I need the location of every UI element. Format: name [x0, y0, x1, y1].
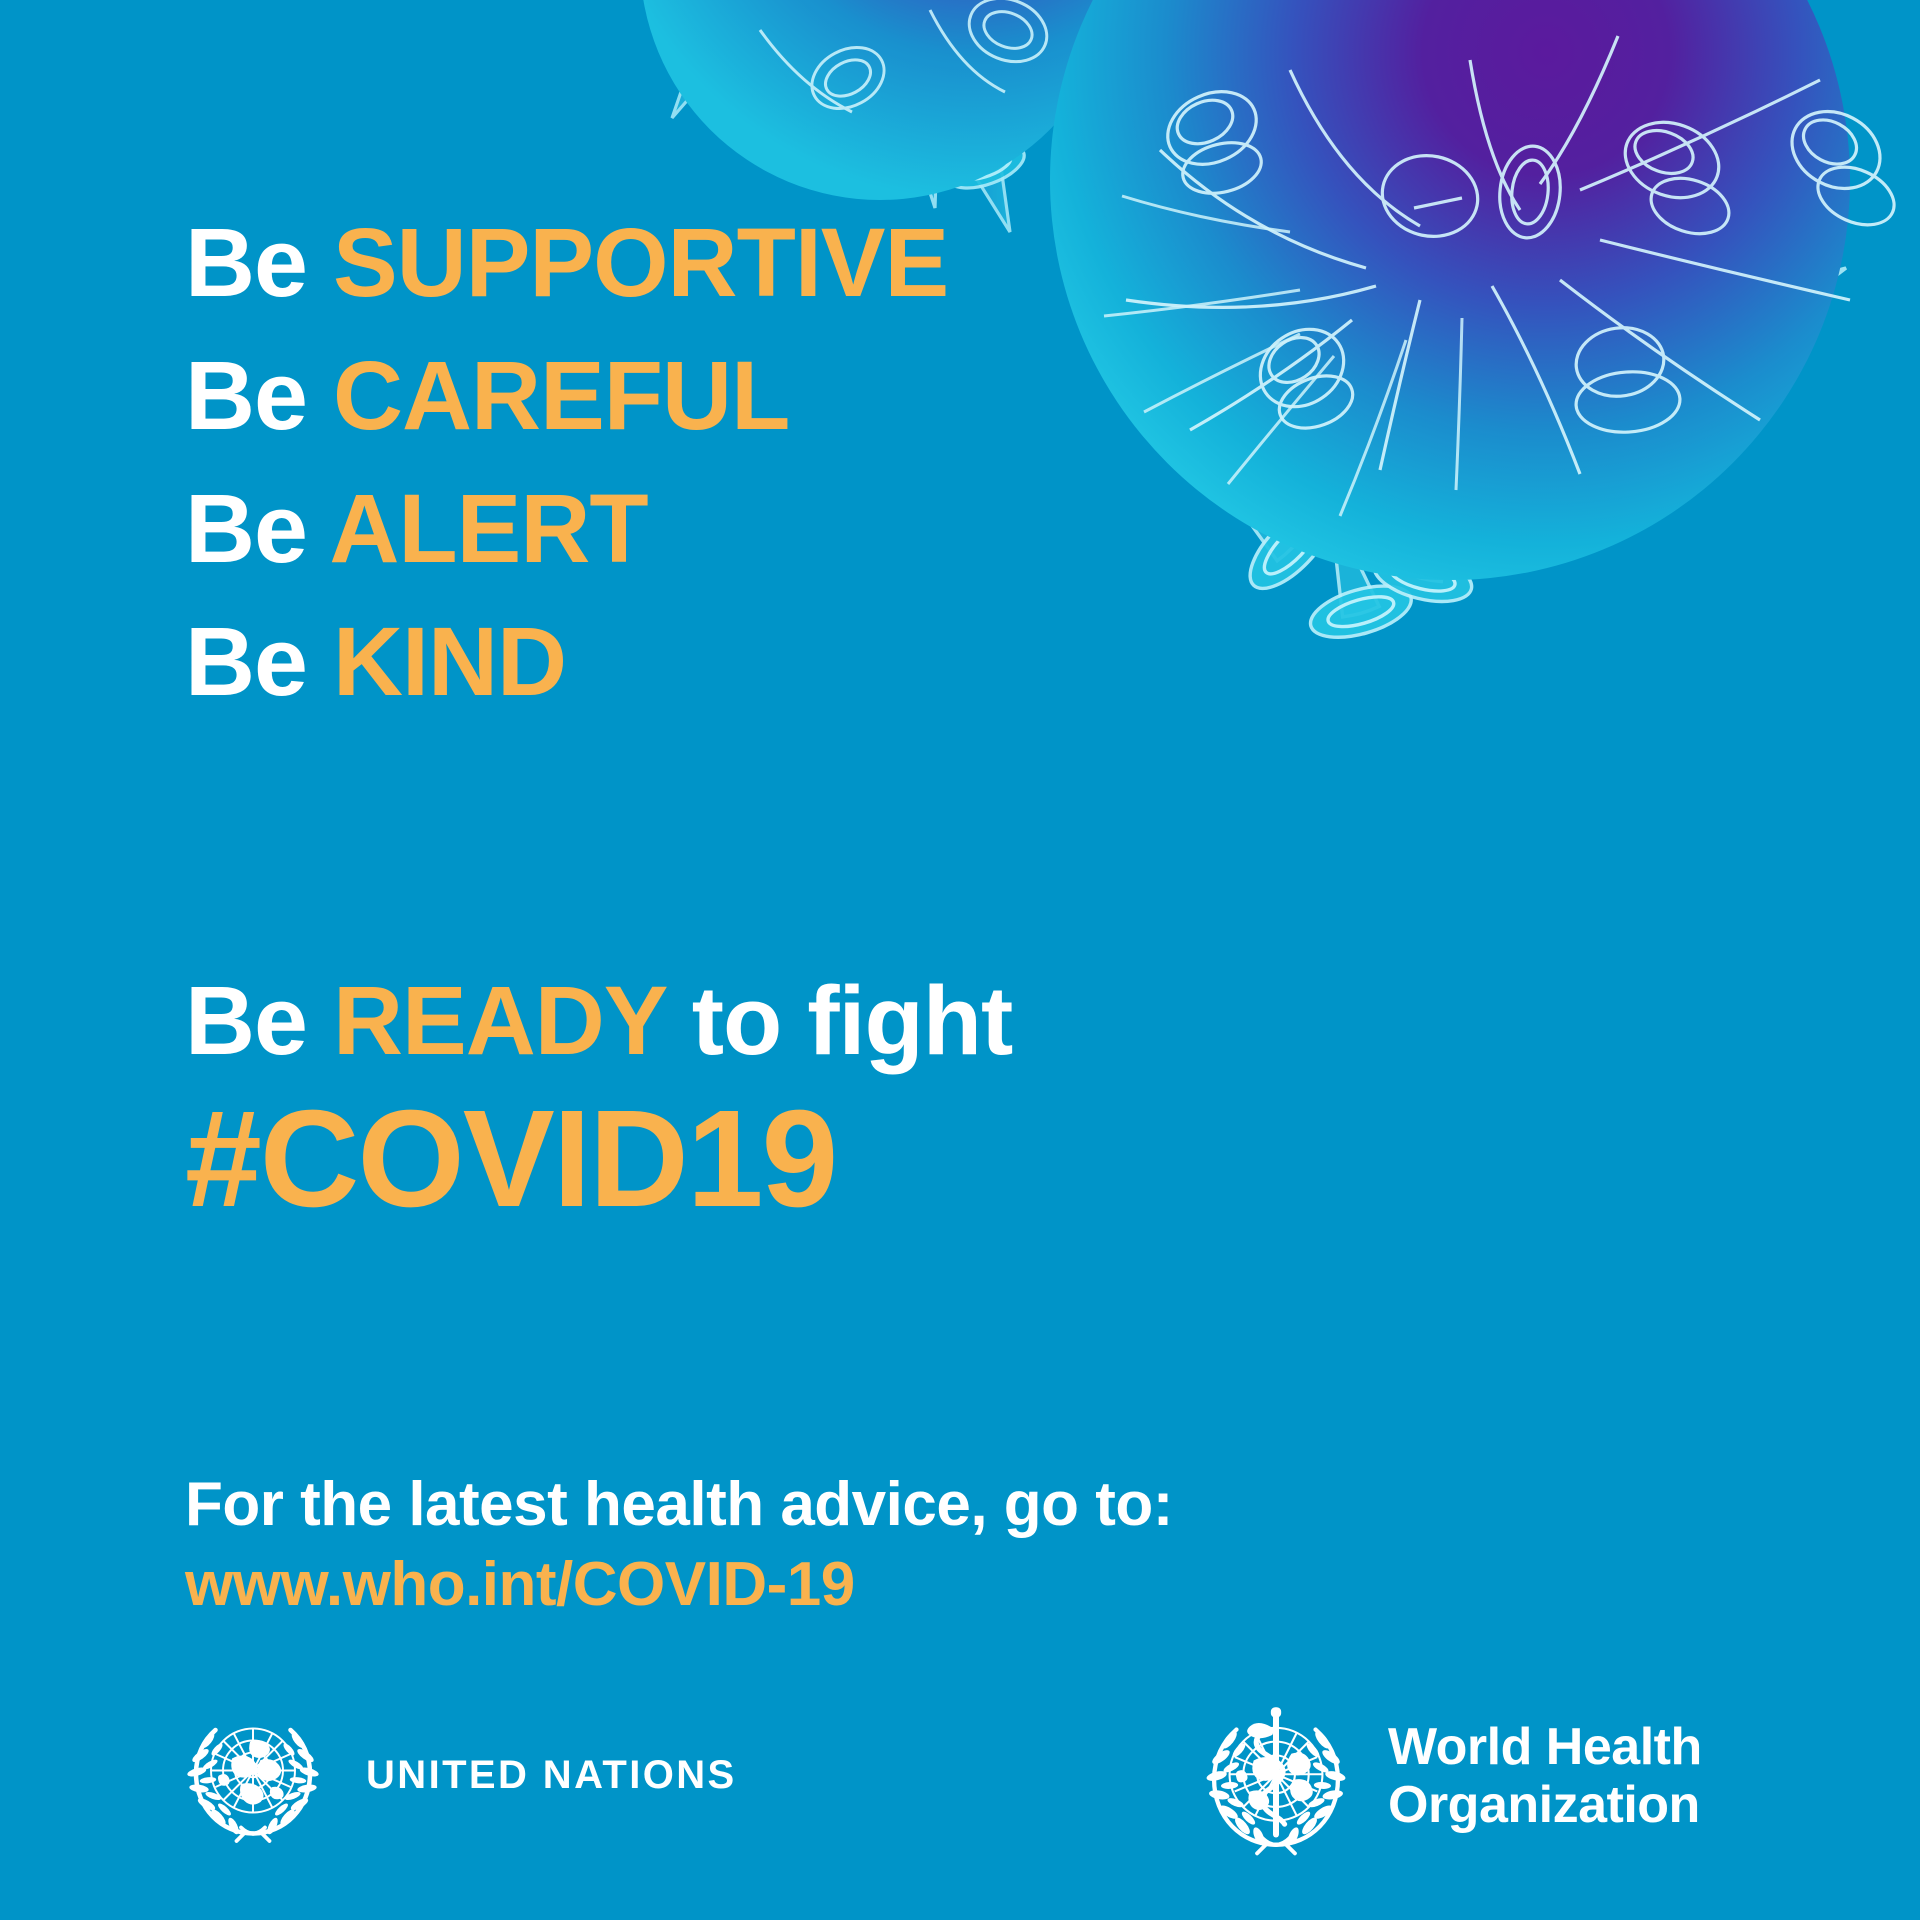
united-nations-wordmark: UNITED NATIONS	[366, 1753, 737, 1798]
headline-prefix: Be	[185, 208, 307, 317]
headline-line-careful: Be CAREFUL	[185, 329, 1285, 462]
poster-canvas: Be SUPPORTIVE Be CAREFUL Be ALERT Be KIN…	[0, 0, 1920, 1920]
headline-line-alert: Be ALERT	[185, 462, 1285, 595]
call-to-action-block: Be READY to fight #COVID19	[185, 962, 1385, 1234]
headline-prefix: Be	[185, 474, 307, 583]
cta-suffix: to fight	[692, 966, 1013, 1075]
united-nations-emblem-icon	[178, 1700, 328, 1850]
who-wordmark-line2: Organization	[1388, 1776, 1702, 1834]
advice-block: For the latest health advice, go to: www…	[185, 1465, 1485, 1625]
logo-row: UNITED NATIONS	[0, 1690, 1920, 1900]
headline-line-kind: Be KIND	[185, 595, 1285, 728]
cta-emphasis-ready: READY	[333, 966, 666, 1075]
headline-prefix: Be	[185, 341, 307, 450]
headline-prefix: Be	[185, 607, 307, 716]
headline-emphasis-supportive: SUPPORTIVE	[333, 208, 948, 317]
who-wordmark-line1: World Health	[1388, 1718, 1702, 1776]
advice-url-link[interactable]: www.who.int/COVID-19	[185, 1545, 1485, 1625]
headline-block: Be SUPPORTIVE Be CAREFUL Be ALERT Be KIN…	[185, 196, 1285, 728]
headline-line-supportive: Be SUPPORTIVE	[185, 196, 1285, 329]
headline-emphasis-careful: CAREFUL	[333, 341, 789, 450]
headline-emphasis-kind: KIND	[333, 607, 566, 716]
call-to-action-line: Be READY to fight	[185, 962, 1385, 1080]
cta-prefix: Be	[185, 966, 307, 1075]
advice-label: For the latest health advice, go to:	[185, 1465, 1485, 1545]
united-nations-logo: UNITED NATIONS	[178, 1700, 737, 1850]
who-logo: World Health Organization	[1190, 1690, 1702, 1862]
world-health-organization-emblem-icon	[1190, 1690, 1362, 1862]
who-wordmark: World Health Organization	[1388, 1718, 1702, 1834]
headline-emphasis-alert: ALERT	[329, 474, 647, 583]
hashtag-covid19: #COVID19	[185, 1084, 1385, 1234]
